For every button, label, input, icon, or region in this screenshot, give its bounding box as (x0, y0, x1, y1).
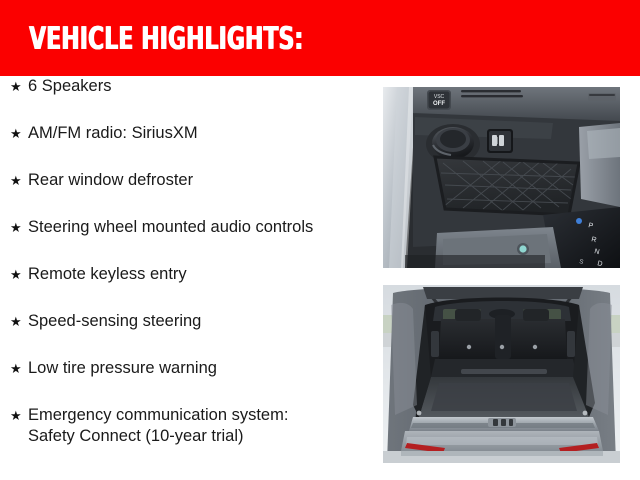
list-item: ★ Emergency communication system: Safety… (0, 405, 372, 447)
svg-text:OFF: OFF (433, 101, 445, 107)
list-item: ★ Speed-sensing steering (0, 311, 372, 332)
svg-text:VSC: VSC (434, 94, 445, 100)
star-bullet-icon: ★ (10, 358, 22, 379)
list-item-label: AM/FM radio: SiriusXM (28, 123, 372, 144)
list-item: ★ 6 Speakers (0, 76, 372, 97)
center-console-photo: VSC OFF (383, 87, 620, 268)
list-item-label: Steering wheel mounted audio controls (28, 217, 372, 238)
list-item: ★ Remote keyless entry (0, 264, 372, 285)
star-bullet-icon: ★ (10, 76, 22, 97)
list-item-label: Rear window defroster (28, 170, 372, 191)
star-bullet-icon: ★ (10, 264, 22, 285)
star-bullet-icon: ★ (10, 405, 22, 426)
list-item: ★ AM/FM radio: SiriusXM (0, 123, 372, 144)
list-item-label: Speed-sensing steering (28, 311, 372, 332)
star-bullet-icon: ★ (10, 170, 22, 191)
list-item-label: Low tire pressure warning (28, 358, 372, 379)
page-title: VEHICLE HIGHLIGHTS: (29, 24, 303, 55)
cargo-area-photo (383, 285, 620, 463)
list-item-label: Remote keyless entry (28, 264, 372, 285)
list-item-label: Emergency communication system: Safety C… (28, 405, 372, 447)
star-bullet-icon: ★ (10, 311, 22, 332)
vehicle-highlights-list: ★ 6 Speakers ★ AM/FM radio: SiriusXM ★ R… (0, 76, 372, 480)
list-item-label: 6 Speakers (28, 76, 372, 97)
list-item: ★ Rear window defroster (0, 170, 372, 191)
list-item: ★ Low tire pressure warning (0, 358, 372, 379)
list-item: ★ Steering wheel mounted audio controls (0, 217, 372, 238)
star-bullet-icon: ★ (10, 123, 22, 144)
star-bullet-icon: ★ (10, 217, 22, 238)
header-banner: VEHICLE HIGHLIGHTS: (0, 0, 640, 76)
